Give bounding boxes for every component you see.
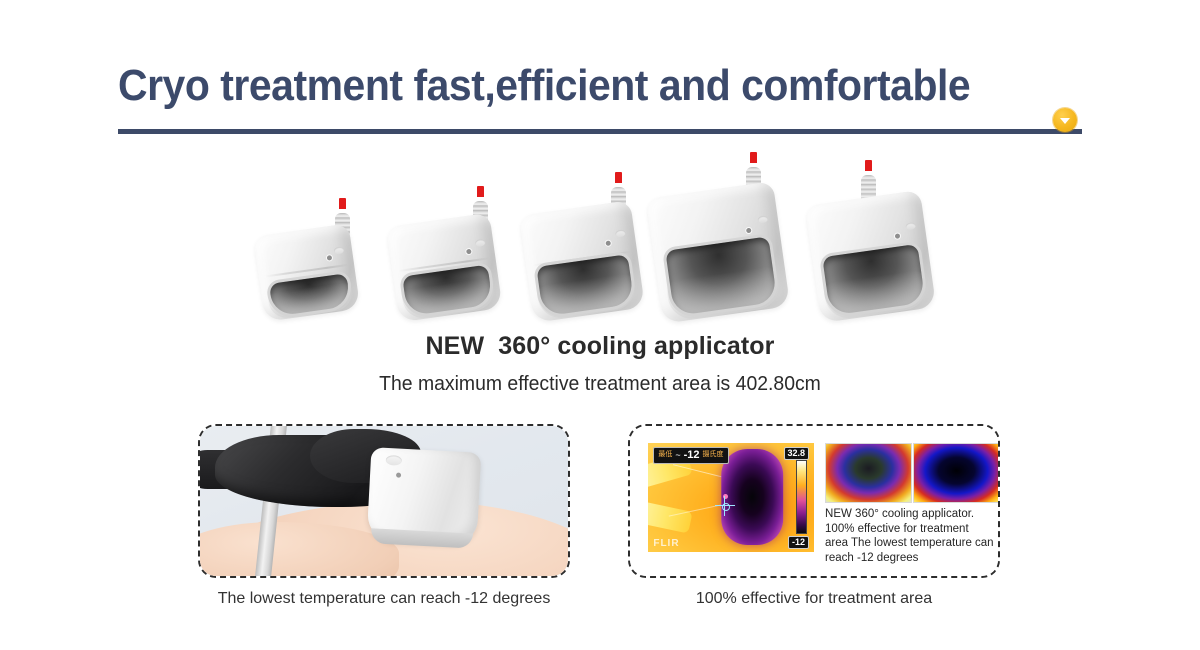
panel-right-caption: 100% effective for treatment area xyxy=(628,588,1000,610)
thermal-thumbnail-after xyxy=(913,443,1000,504)
photo-applicator-led xyxy=(397,473,402,478)
thermal-color-scale xyxy=(796,460,807,534)
applicator-item-2[interactable] xyxy=(385,186,507,316)
product-heading: NEW 360° cooling applicator xyxy=(0,330,1200,362)
thermal-thumbnail-before xyxy=(825,443,912,504)
thermal-arm-lower xyxy=(648,500,693,533)
applicator-body xyxy=(646,181,790,324)
thermal-tag-unit: 摄氏度 xyxy=(703,449,724,461)
body-dimple xyxy=(615,229,626,237)
panel-left: The lowest temperature can reach -12 deg… xyxy=(198,424,570,624)
photo-applicator-dimple xyxy=(386,455,403,466)
connector-plug-icon xyxy=(339,198,346,209)
page-root: Cryo treatment fast,efficient and comfor… xyxy=(0,0,1200,650)
connector-plug-icon xyxy=(865,160,872,171)
thermal-tag-prefix: 最低 xyxy=(658,449,672,461)
panel-right-frame[interactable]: 最低 ~ -12 摄氏度 32.8 -12 FLIR NEW 360° cool… xyxy=(628,424,1000,578)
photo-applicator xyxy=(367,447,482,546)
chevron-down-glyph xyxy=(1060,118,1070,124)
product-subheading: The maximum effective treatment area is … xyxy=(18,371,1182,397)
body-dimple xyxy=(334,247,345,255)
body-led xyxy=(606,240,612,246)
applicator-body xyxy=(386,213,502,323)
applicator-item-5[interactable] xyxy=(806,160,938,316)
panel-right: 最低 ~ -12 摄氏度 32.8 -12 FLIR NEW 360° cool… xyxy=(628,424,1000,624)
body-dimple xyxy=(757,215,768,223)
connector-plug-icon xyxy=(750,152,757,163)
applicator-body xyxy=(805,190,936,323)
thermal-note: NEW 360° cooling applicator. 100% effect… xyxy=(825,507,994,565)
thermal-tag-value: -12 xyxy=(684,449,700,461)
thermal-scale-max: 32.8 xyxy=(784,447,810,460)
body-led xyxy=(746,228,752,234)
applicator-item-3[interactable] xyxy=(518,172,650,316)
page-title: Cryo treatment fast,efficient and comfor… xyxy=(118,60,1011,112)
applicator-row xyxy=(0,126,1200,316)
body-dimple xyxy=(905,222,916,230)
treatment-photo xyxy=(200,426,568,576)
applicator-body xyxy=(519,200,645,323)
thermal-composite: 最低 ~ -12 摄氏度 32.8 -12 FLIR NEW 360° cool… xyxy=(630,426,998,576)
body-led xyxy=(327,255,333,261)
product-copy: NEW 360° cooling applicator The maximum … xyxy=(0,330,1200,397)
connector-plug-icon xyxy=(615,172,622,183)
body-dimple xyxy=(474,239,485,247)
thermal-tag-tilde: ~ xyxy=(675,449,680,461)
panel-left-frame[interactable] xyxy=(198,424,570,578)
thermal-main-image: 最低 ~ -12 摄氏度 32.8 -12 FLIR xyxy=(648,443,814,553)
connector-plug-icon xyxy=(477,186,484,197)
applicator-item-4[interactable] xyxy=(645,152,793,316)
body-led xyxy=(466,248,472,254)
applicator-item-1[interactable] xyxy=(252,198,362,316)
thermal-min-temp-tag: 最低 ~ -12 摄氏度 xyxy=(653,447,728,464)
flir-watermark: FLIR xyxy=(653,538,679,549)
panel-left-caption: The lowest temperature can reach -12 deg… xyxy=(198,588,570,610)
thermal-scale-min: -12 xyxy=(788,536,809,549)
applicator-body xyxy=(253,223,360,322)
body-led xyxy=(895,233,901,239)
